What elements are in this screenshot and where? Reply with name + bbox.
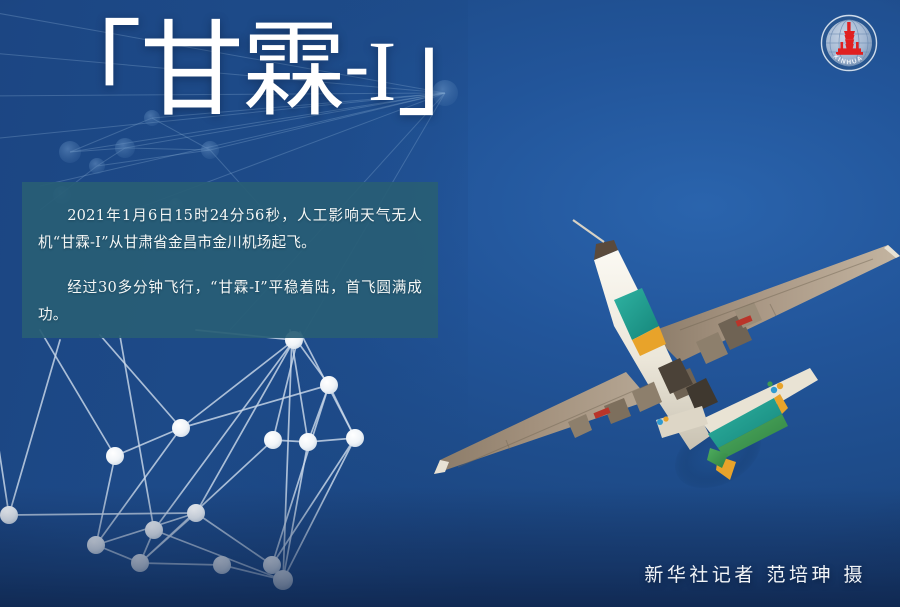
caption-paragraph-1: 2021年1月6日15时24分56秒，人工影响天气无人机“甘霖-I”从甘肃省金昌… (38, 202, 422, 256)
title-numeral: I (368, 23, 397, 119)
xinhua-logo-icon: XINHUA (818, 12, 880, 74)
title-char-2: 霖 (242, 9, 344, 131)
title-dash: - (344, 21, 368, 110)
caption-panel: 2021年1月6日15时24分56秒，人工影响天气无人机“甘霖-I”从甘肃省金昌… (22, 182, 438, 338)
title-char-1: 甘 (140, 9, 242, 131)
page-title: 「甘霖-I」 (38, 18, 388, 122)
title-open-bracket: 「 (38, 9, 140, 131)
network-links-bright (0, 330, 355, 580)
network-nodes-bright (0, 331, 364, 590)
title-close-bracket: 」 (396, 9, 498, 131)
news-poster: 「甘霖-I」 2021年1月6日15时24分56秒，人工影响天气无人机“甘霖-I… (0, 0, 900, 607)
photo-credit: 新华社记者 范培珅 摄 (644, 560, 866, 587)
poster-title-block: 「甘霖-I」 (38, 18, 388, 168)
caption-paragraph-2: 经过30多分钟飞行，“甘霖-I”平稳着陆，首飞圆满成功。 (38, 274, 422, 328)
